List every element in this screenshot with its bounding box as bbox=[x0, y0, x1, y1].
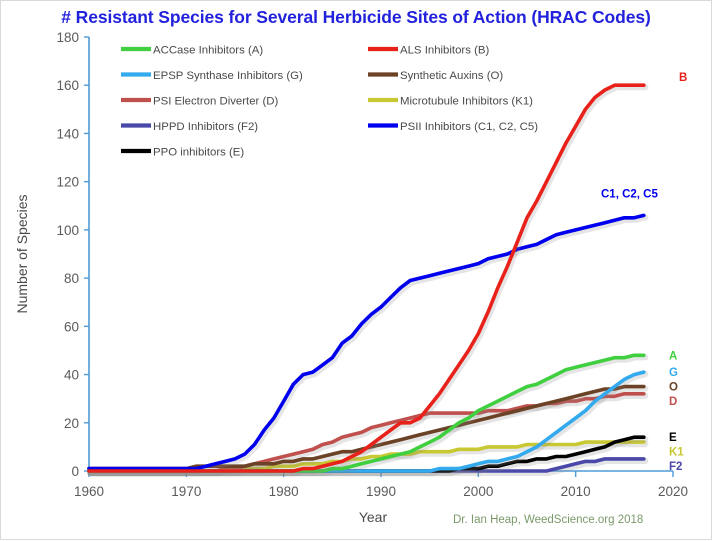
y-tick-label: 40 bbox=[64, 368, 79, 383]
series-end-label-d: D bbox=[669, 396, 677, 408]
legend-item-auxins[interactable]: Synthetic Auxins (O) bbox=[368, 70, 503, 82]
series-layer bbox=[89, 85, 645, 473]
y-tick-label: 0 bbox=[71, 464, 79, 479]
x-tick-label: 1960 bbox=[74, 484, 104, 499]
x-tick-label: 2020 bbox=[658, 484, 688, 499]
legend-item-microtubule[interactable]: Microtubule Inhibitors (K1) bbox=[368, 95, 533, 107]
legend-item-psi[interactable]: PSI Electron Diverter (D) bbox=[121, 95, 279, 107]
legend-label-als: ALS Inhibitors (B) bbox=[400, 44, 489, 56]
series-end-labels: BC1, C2, C5AGODEK1F2 bbox=[601, 72, 687, 473]
y-tick-label: 60 bbox=[64, 319, 79, 334]
series-end-label-e: E bbox=[669, 432, 677, 444]
series-end-label-c1-c2-c5: C1, C2, C5 bbox=[601, 188, 658, 200]
legend-label-accase: ACCase Inhibitors (A) bbox=[153, 44, 263, 56]
series-end-label-o: O bbox=[669, 382, 678, 394]
legend-item-ppo[interactable]: PPO inhibitors (E) bbox=[121, 146, 244, 158]
legend-item-hppd[interactable]: HPPD Inhibitors (F2) bbox=[121, 121, 258, 133]
y-axis-title: Number of Species bbox=[14, 194, 30, 313]
chart-plot-area: 0204060801001201401601801960197019801990… bbox=[1, 1, 712, 541]
series-end-label-b: B bbox=[679, 72, 687, 84]
y-tick-label: 160 bbox=[56, 78, 79, 93]
x-tick-label: 1990 bbox=[366, 484, 396, 499]
legend-label-psii: PSII Inhibitors (C1, C2, C5) bbox=[400, 121, 538, 133]
x-tick-label: 1970 bbox=[171, 484, 201, 499]
legend-label-microtubule: Microtubule Inhibitors (K1) bbox=[400, 95, 533, 107]
series-shadow-b bbox=[91, 87, 646, 473]
credit-annotation: Dr. Ian Heap, WeedScience.org 2018 bbox=[453, 514, 643, 526]
y-tick-label: 20 bbox=[64, 416, 79, 431]
x-tick-label: 2010 bbox=[561, 484, 591, 499]
legend-label-psi: PSI Electron Diverter (D) bbox=[153, 95, 279, 107]
x-tick-label: 2000 bbox=[463, 484, 493, 499]
y-tick-label: 80 bbox=[64, 271, 79, 286]
y-tick-label: 140 bbox=[56, 126, 79, 141]
legend-label-epsp: EPSP Synthase Inhibitors (G) bbox=[153, 70, 303, 82]
legend-label-auxins: Synthetic Auxins (O) bbox=[400, 70, 503, 82]
y-tick-label: 180 bbox=[56, 30, 79, 45]
legend-item-accase[interactable]: ACCase Inhibitors (A) bbox=[121, 44, 263, 56]
annotation-layer: Dr. Ian Heap, WeedScience.org 2018 bbox=[453, 514, 643, 526]
x-tick-label: 1980 bbox=[269, 484, 299, 499]
chart-legend: ACCase Inhibitors (A)EPSP Synthase Inhib… bbox=[121, 44, 538, 158]
series-end-label-f2: F2 bbox=[669, 461, 682, 473]
series-end-label-k1: K1 bbox=[669, 447, 684, 459]
y-tick-label: 100 bbox=[56, 223, 79, 238]
x-axis-title: Year bbox=[359, 509, 388, 525]
legend-item-psii[interactable]: PSII Inhibitors (C1, C2, C5) bbox=[368, 121, 538, 133]
series-end-label-a: A bbox=[669, 350, 677, 362]
legend-label-ppo: PPO inhibitors (E) bbox=[153, 146, 244, 158]
chart-container: # Resistant Species for Several Herbicid… bbox=[0, 0, 712, 540]
y-tick-label: 120 bbox=[56, 175, 79, 190]
series-end-label-g: G bbox=[669, 367, 678, 379]
legend-item-epsp[interactable]: EPSP Synthase Inhibitors (G) bbox=[121, 70, 303, 82]
legend-label-hppd: HPPD Inhibitors (F2) bbox=[153, 121, 258, 133]
series-line-b[interactable] bbox=[89, 85, 644, 471]
legend-item-als[interactable]: ALS Inhibitors (B) bbox=[368, 44, 489, 56]
